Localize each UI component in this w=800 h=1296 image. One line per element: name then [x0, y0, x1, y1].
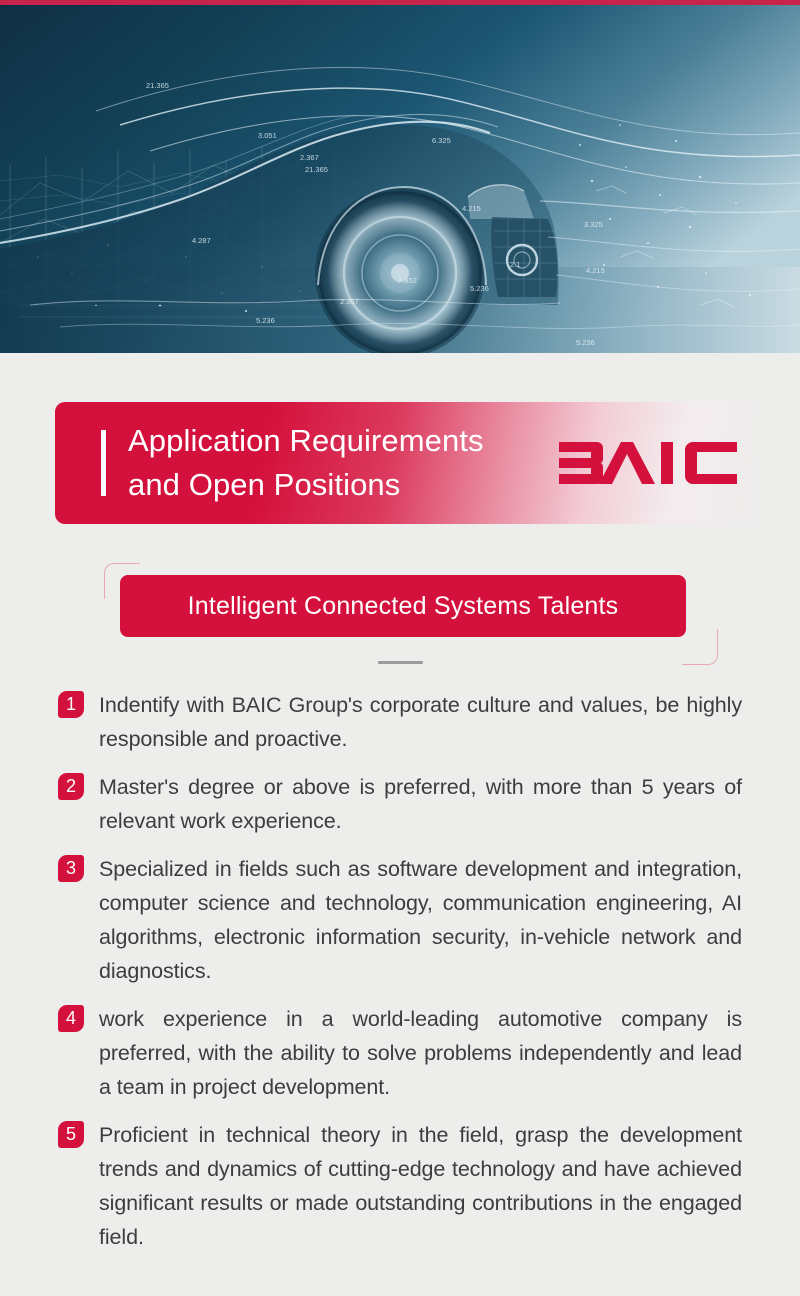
svg-text:3.325: 3.325 — [584, 220, 603, 229]
list-item: 3 Specialized in fields such as software… — [58, 852, 742, 988]
poster-page: 21.365 21.365 2.367 3.051 6.325 4.215 4.… — [0, 0, 800, 1296]
svg-text:4.215: 4.215 — [462, 204, 481, 213]
requirement-text: Proficient in technical theory in the fi… — [99, 1118, 742, 1254]
svg-text:4.287: 4.287 — [192, 236, 211, 245]
requirement-text: Indentify with BAIC Group's corporate cu… — [99, 688, 742, 756]
banner-title: Application Requirements and Open Positi… — [128, 419, 484, 507]
svg-text:5.236: 5.236 — [576, 338, 595, 347]
corner-bracket-bottom-right-icon — [682, 629, 718, 665]
svg-text:2.367: 2.367 — [300, 153, 319, 162]
requirement-text: work experience in a world-leading autom… — [99, 1002, 742, 1104]
banner-accent-bar — [101, 430, 106, 496]
svg-text:3.051: 3.051 — [258, 131, 277, 140]
svg-text:2.1: 2.1 — [510, 260, 520, 269]
requirement-number-badge: 2 — [58, 773, 84, 800]
requirement-number-badge: 5 — [58, 1121, 84, 1148]
list-item: 4 work experience in a world-leading aut… — [58, 1002, 742, 1104]
baic-logo-mark — [551, 438, 737, 488]
svg-text:5.236: 5.236 — [256, 316, 275, 325]
section-heading-text: Intelligent Connected Systems Talents — [188, 592, 619, 621]
list-item: 2 Master's degree or above is preferred,… — [58, 770, 742, 838]
baic-logo — [551, 438, 737, 488]
hero-image: 21.365 21.365 2.367 3.051 6.325 4.215 4.… — [0, 5, 800, 353]
requirements-list: 1 Indentify with BAIC Group's corporate … — [58, 688, 742, 1268]
requirement-text: Specialized in fields such as software d… — [99, 852, 742, 988]
title-banner: Application Requirements and Open Positi… — [55, 402, 755, 524]
requirement-number-badge: 4 — [58, 1005, 84, 1032]
svg-text:21.365: 21.365 — [305, 165, 328, 174]
svg-text:7.952: 7.952 — [398, 276, 417, 285]
section-heading-group: Intelligent Connected Systems Talents — [104, 563, 718, 665]
section-heading-pill: Intelligent Connected Systems Talents — [120, 575, 686, 637]
svg-text:21.365: 21.365 — [146, 81, 169, 90]
requirement-number-badge: 3 — [58, 855, 84, 882]
section-divider — [378, 661, 423, 664]
requirement-text: Master's degree or above is preferred, w… — [99, 770, 742, 838]
svg-text:5.236: 5.236 — [470, 284, 489, 293]
list-item: 5 Proficient in technical theory in the … — [58, 1118, 742, 1254]
svg-text:4.215: 4.215 — [586, 266, 605, 275]
svg-text:6.325: 6.325 — [432, 136, 451, 145]
requirement-number-badge: 1 — [58, 691, 84, 718]
car-aero-illustration: 21.365 21.365 2.367 3.051 6.325 4.215 4.… — [0, 5, 800, 353]
svg-text:2.367: 2.367 — [340, 297, 359, 306]
list-item: 1 Indentify with BAIC Group's corporate … — [58, 688, 742, 756]
